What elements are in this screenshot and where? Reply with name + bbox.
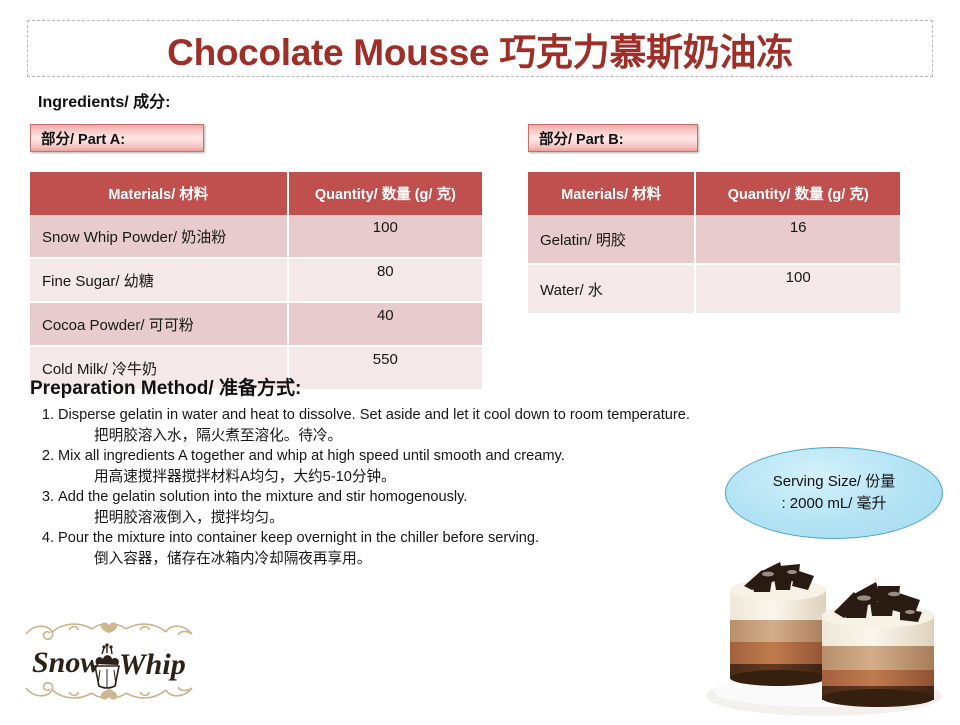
column-header-materials: Materials/ 材料 (528, 172, 695, 215)
mousse-cake-back (730, 562, 826, 686)
preparation-step: 3.Add the gelatin solution into the mixt… (36, 488, 766, 528)
cell-quantity: 80 (288, 258, 482, 302)
chocolate-shards-back (744, 562, 814, 592)
table-row: Snow Whip Powder/ 奶油粉 100 (30, 215, 482, 258)
serving-size-line-1: Serving Size/ 份量 (773, 471, 896, 494)
step-number: 1. (36, 406, 54, 426)
logo-word-snow: Snow (32, 646, 101, 679)
cell-material: Gelatin/ 明胶 (528, 215, 695, 264)
column-header-quantity: Quantity/ 数量 (g/ 克) (288, 172, 482, 215)
column-header-quantity: Quantity/ 数量 (g/ 克) (695, 172, 900, 215)
ingredients-table-part-a: Materials/ 材料 Quantity/ 数量 (g/ 克) Snow W… (30, 172, 482, 391)
serving-size-line-2: : 2000 mL/ 毫升 (781, 493, 886, 516)
chocolate-shards-front (834, 582, 922, 622)
cell-quantity: 16 (695, 215, 900, 264)
preparation-step: 4.Pour the mixture into container keep o… (36, 529, 766, 569)
step-number: 4. (36, 529, 54, 549)
step-english-line: 4.Pour the mixture into container keep o… (36, 529, 766, 549)
step-number: 3. (36, 488, 54, 508)
preparation-step: 2.Mix all ingredients A together and whi… (36, 447, 766, 487)
page-title: Chocolate Mousse 巧克力慕斯奶油冻 (167, 22, 793, 76)
step-english-line: 3.Add the gelatin solution into the mixt… (36, 488, 766, 508)
preparation-step: 1.Disperse gelatin in water and heat to … (36, 406, 766, 446)
step-number: 2. (36, 447, 54, 467)
step-english-line: 2.Mix all ingredients A together and whi… (36, 447, 766, 467)
table-header-row: Materials/ 材料 Quantity/ 数量 (g/ 克) (528, 172, 900, 215)
step-chinese-text: 把明胶溶液倒入，搅拌均匀。 (36, 508, 766, 528)
cell-material: Fine Sugar/ 幼糖 (30, 258, 288, 302)
preparation-heading: Preparation Method/ 准备方式: (30, 373, 301, 400)
cell-quantity: 40 (288, 302, 482, 346)
preparation-steps: 1.Disperse gelatin in water and heat to … (36, 406, 766, 570)
cell-quantity: 550 (288, 346, 482, 390)
cell-material: Cocoa Powder/ 可可粉 (30, 302, 288, 346)
table-row: Water/ 水 100 (528, 264, 900, 314)
title-banner: Chocolate Mousse 巧克力慕斯奶油冻 (27, 20, 933, 77)
table-row: Fine Sugar/ 幼糖 80 (30, 258, 482, 302)
mousse-cake-front (822, 582, 934, 707)
cell-material: Water/ 水 (528, 264, 695, 314)
part-a-label: 部分/ Part A: (30, 124, 204, 152)
step-english-text: Add the gelatin solution into the mixtur… (58, 489, 467, 505)
ingredients-table-part-b: Materials/ 材料 Quantity/ 数量 (g/ 克) Gelati… (528, 172, 900, 315)
table-row: Cocoa Powder/ 可可粉 40 (30, 302, 482, 346)
step-chinese-text: 用高速搅拌器搅拌材料A均匀，大约5-10分钟。 (36, 467, 766, 487)
dessert-photo (688, 528, 960, 720)
step-english-line: 1.Disperse gelatin in water and heat to … (36, 406, 766, 426)
cell-material: Snow Whip Powder/ 奶油粉 (30, 215, 288, 258)
table-row: Gelatin/ 明胶 16 (528, 215, 900, 264)
step-chinese-text: 倒入容器，储存在冰箱内冷却隔夜再享用。 (36, 549, 766, 569)
column-header-materials: Materials/ 材料 (30, 172, 288, 215)
heart-icon (101, 623, 117, 633)
heart-bottom-icon (101, 689, 117, 699)
step-chinese-text: 把明胶溶入水，隔火煮至溶化。待冷。 (36, 426, 766, 446)
snow-whip-logo: Snow Whip (14, 612, 204, 710)
dessert-illustration (688, 528, 960, 720)
step-english-text: Mix all ingredients A together and whip … (58, 448, 565, 464)
part-b-label: 部分/ Part B: (528, 124, 698, 152)
table-header-row: Materials/ 材料 Quantity/ 数量 (g/ 克) (30, 172, 482, 215)
step-english-text: Pour the mixture into container keep ove… (58, 530, 539, 546)
logo-word-whip: Whip (119, 648, 186, 681)
ingredients-heading: Ingredients/ 成分: (38, 88, 170, 112)
logo-artwork: Snow Whip (14, 612, 204, 710)
cell-quantity: 100 (695, 264, 900, 314)
serving-size-badge: Serving Size/ 份量 : 2000 mL/ 毫升 (725, 447, 943, 539)
cell-quantity: 100 (288, 215, 482, 258)
step-english-text: Disperse gelatin in water and heat to di… (58, 407, 690, 423)
